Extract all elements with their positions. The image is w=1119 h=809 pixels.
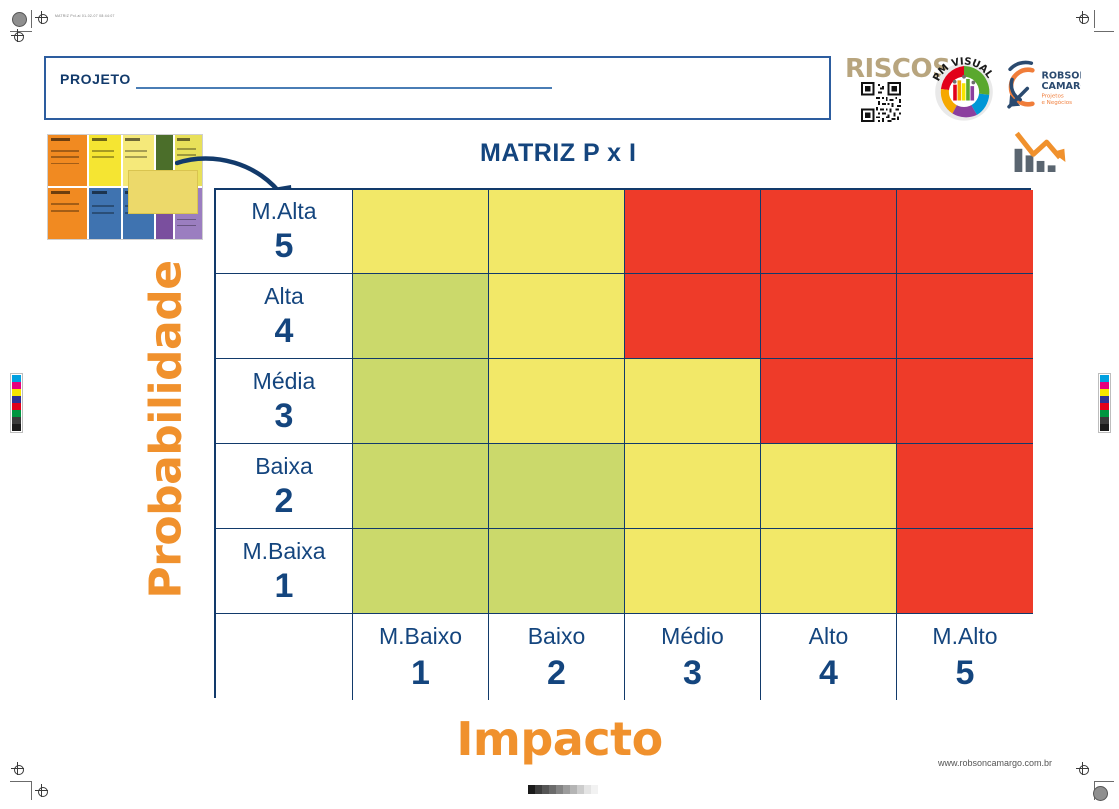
print-dot-mark bbox=[12, 12, 27, 27]
svg-text:CAMARGO: CAMARGO bbox=[1041, 81, 1081, 92]
col-value: 5 bbox=[956, 656, 975, 690]
print-slug-text: MATRIZ PxI.ai 01-02-07 08:44:07 bbox=[55, 14, 115, 18]
col-label: Alto bbox=[809, 625, 849, 648]
col-label: M.Alto bbox=[932, 625, 997, 648]
pm-visual-logo-icon: PM VISUAL bbox=[928, 53, 1000, 125]
svg-text:Projetos: Projetos bbox=[1041, 94, 1063, 100]
matrix-cell-p3-i4[interactable] bbox=[761, 359, 897, 444]
matrix-cell-p2-i3[interactable] bbox=[625, 444, 761, 529]
col-label: Médio bbox=[661, 625, 724, 648]
print-rule-tr bbox=[1094, 31, 1114, 32]
matrix-corner-cell bbox=[216, 614, 353, 700]
matrix-cell-p5-i4[interactable] bbox=[761, 190, 897, 274]
col-header-medio: Médio 3 bbox=[625, 614, 761, 700]
color-calibration-strip-left bbox=[10, 373, 23, 433]
matrix-cell-p2-i5[interactable] bbox=[897, 444, 1033, 529]
matrix-cell-p5-i5[interactable] bbox=[897, 190, 1033, 274]
print-rule-br bbox=[1094, 781, 1114, 782]
matrix-cell-p3-i1[interactable] bbox=[353, 359, 489, 444]
col-header-m-alto: M.Alto 5 bbox=[897, 614, 1033, 700]
matrix-cell-p4-i1[interactable] bbox=[353, 274, 489, 359]
row-header-media: Média 3 bbox=[216, 359, 353, 444]
gray-step-wedge bbox=[528, 785, 598, 794]
col-value: 3 bbox=[683, 656, 702, 690]
registration-mark-top-left bbox=[35, 11, 48, 24]
col-header-m-baixo: M.Baixo 1 bbox=[353, 614, 489, 700]
matrix-cell-p4-i2[interactable] bbox=[489, 274, 625, 359]
risk-matrix-grid: M.Alta 5 Alta 4 Média 3 Baixa 2 bbox=[214, 188, 1031, 698]
matrix-cell-p5-i3[interactable] bbox=[625, 190, 761, 274]
projeto-write-line bbox=[136, 87, 552, 89]
svg-text:ROBSON: ROBSON bbox=[1041, 70, 1081, 81]
matrix-cell-p5-i1[interactable] bbox=[353, 190, 489, 274]
row-value: 3 bbox=[275, 399, 294, 433]
matrix-cell-p2-i1[interactable] bbox=[353, 444, 489, 529]
col-label: Baixo bbox=[528, 625, 586, 648]
poster-page: MATRIZ PxI.ai 01-02-07 08:44:07 PROJETO … bbox=[0, 0, 1119, 809]
col-value: 2 bbox=[547, 656, 566, 690]
projeto-label: PROJETO bbox=[60, 71, 131, 87]
print-divider-line-tr bbox=[1094, 10, 1095, 28]
row-header-m-baixa: M.Baixa 1 bbox=[216, 529, 353, 614]
row-value: 5 bbox=[275, 229, 294, 263]
qr-code-icon[interactable] bbox=[855, 82, 907, 122]
matrix-cell-p3-i3[interactable] bbox=[625, 359, 761, 444]
website-url: www.robsoncamargo.com.br bbox=[938, 758, 1052, 768]
matrix-cell-p2-i2[interactable] bbox=[489, 444, 625, 529]
row-label: Média bbox=[253, 370, 316, 393]
row-label: Baixa bbox=[255, 455, 313, 478]
svg-text:e Negócios: e Negócios bbox=[1041, 99, 1072, 106]
matrix-cell-p1-i3[interactable] bbox=[625, 529, 761, 614]
color-calibration-strip-right bbox=[1098, 373, 1111, 433]
matrix-cell-p3-i2[interactable] bbox=[489, 359, 625, 444]
row-label: M.Baixa bbox=[242, 540, 325, 563]
registration-mark-top-left-2 bbox=[11, 29, 24, 42]
matrix-cell-p2-i4[interactable] bbox=[761, 444, 897, 529]
col-value: 4 bbox=[819, 656, 838, 690]
declining-chart-icon bbox=[1012, 130, 1068, 172]
matrix-cell-p4-i3[interactable] bbox=[625, 274, 761, 359]
matrix-cell-p4-i4[interactable] bbox=[761, 274, 897, 359]
row-header-m-alta: M.Alta 5 bbox=[216, 190, 353, 274]
registration-mark-bottom-left-2 bbox=[35, 784, 48, 797]
print-rule-bl bbox=[10, 781, 32, 782]
projeto-input-box[interactable]: PROJETO bbox=[44, 56, 831, 120]
matrix-cell-p1-i5[interactable] bbox=[897, 529, 1033, 614]
row-value: 2 bbox=[275, 484, 294, 518]
page-title: MATRIZ P x I bbox=[480, 139, 636, 168]
col-header-alto: Alto 4 bbox=[761, 614, 897, 700]
print-divider-line-bl bbox=[31, 782, 32, 800]
print-divider-line bbox=[31, 10, 32, 28]
registration-mark-top-right bbox=[1076, 11, 1089, 24]
row-label: Alta bbox=[264, 285, 304, 308]
print-dot-mark-br bbox=[1093, 786, 1108, 801]
matrix-cell-p1-i4[interactable] bbox=[761, 529, 897, 614]
matrix-cell-p1-i1[interactable] bbox=[353, 529, 489, 614]
row-header-alta: Alta 4 bbox=[216, 274, 353, 359]
col-label: M.Baixo bbox=[379, 625, 462, 648]
matrix-cell-p3-i5[interactable] bbox=[897, 359, 1033, 444]
matrix-cell-p1-i2[interactable] bbox=[489, 529, 625, 614]
matrix-cell-p4-i5[interactable] bbox=[897, 274, 1033, 359]
y-axis-label: Probabilidade bbox=[141, 220, 192, 640]
row-value: 4 bbox=[275, 314, 294, 348]
row-value: 1 bbox=[275, 569, 294, 603]
col-value: 1 bbox=[411, 656, 430, 690]
col-header-baixo: Baixo 2 bbox=[489, 614, 625, 700]
matrix-cell-p5-i2[interactable] bbox=[489, 190, 625, 274]
row-label: M.Alta bbox=[251, 200, 316, 223]
row-header-baixa: Baixa 2 bbox=[216, 444, 353, 529]
robson-camargo-logo-icon: ROBSON CAMARGO Projetos e Negócios bbox=[1005, 58, 1081, 114]
